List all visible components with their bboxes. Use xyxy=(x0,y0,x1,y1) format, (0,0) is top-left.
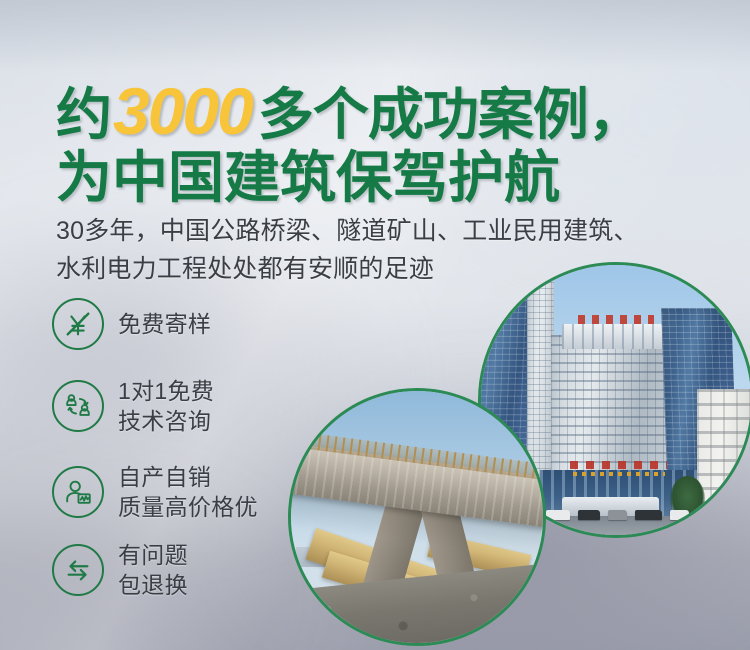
center-crown xyxy=(562,324,670,348)
feature-label-line-1: 有问题 xyxy=(118,540,188,570)
feature-label-line-2: 技术咨询 xyxy=(118,406,214,436)
feature-item-free-sample[interactable]: 免费寄样 xyxy=(52,298,211,350)
headline-number: 3000 xyxy=(111,74,258,148)
headline: 约3000多个成功案例， 为中国建筑保驾护航 xyxy=(56,78,643,206)
feature-label: 免费寄样 xyxy=(118,309,211,339)
bridge-photo xyxy=(288,388,546,646)
headline-suffix: 多个成功案例， xyxy=(258,83,643,146)
one-on-one-consult-icon xyxy=(52,380,104,432)
rooftop-sign xyxy=(578,315,654,324)
feature-item-return-exchange[interactable]: 有问题 包退换 xyxy=(52,540,188,601)
feature-item-quality[interactable]: 自产自销 质量高价格优 xyxy=(52,462,258,523)
headline-prefix: 约 xyxy=(56,83,111,146)
self-produced-quality-icon xyxy=(52,466,104,518)
free-yen-icon xyxy=(52,298,104,350)
feature-label: 1对1免费 技术咨询 xyxy=(118,376,214,437)
return-exchange-icon xyxy=(52,544,104,596)
feature-item-consultation[interactable]: 1对1免费 技术咨询 xyxy=(52,376,214,437)
feature-label-line-1: 1对1免费 xyxy=(118,376,214,406)
car xyxy=(546,510,570,520)
feature-label-line-2: 包退换 xyxy=(118,570,188,600)
feature-label-line-1: 免费寄样 xyxy=(118,311,211,337)
car xyxy=(578,510,600,520)
feature-label: 自产自销 质量高价格优 xyxy=(118,462,258,523)
feature-label-line-2: 质量高价格优 xyxy=(118,492,258,522)
facade-sign-subtitle xyxy=(573,472,665,476)
headline-line-1: 约3000多个成功案例， xyxy=(56,78,643,144)
car xyxy=(670,510,689,520)
white-building xyxy=(697,389,750,535)
feature-label: 有问题 包退换 xyxy=(118,540,188,601)
car xyxy=(635,510,662,520)
headline-line-2: 为中国建筑保驾护航 xyxy=(56,150,643,206)
car xyxy=(608,510,627,520)
background-top-vignette xyxy=(0,0,750,70)
subtitle-line-1: 30多年，中国公路桥梁、隧道矿山、工业民用建筑、 xyxy=(56,212,639,250)
facade-sign xyxy=(570,461,667,469)
feature-label-line-1: 自产自销 xyxy=(118,462,258,492)
promo-banner: 约3000多个成功案例， 为中国建筑保驾护航 30多年，中国公路桥梁、隧道矿山、… xyxy=(0,0,750,650)
bridge-photo-content xyxy=(291,391,543,643)
